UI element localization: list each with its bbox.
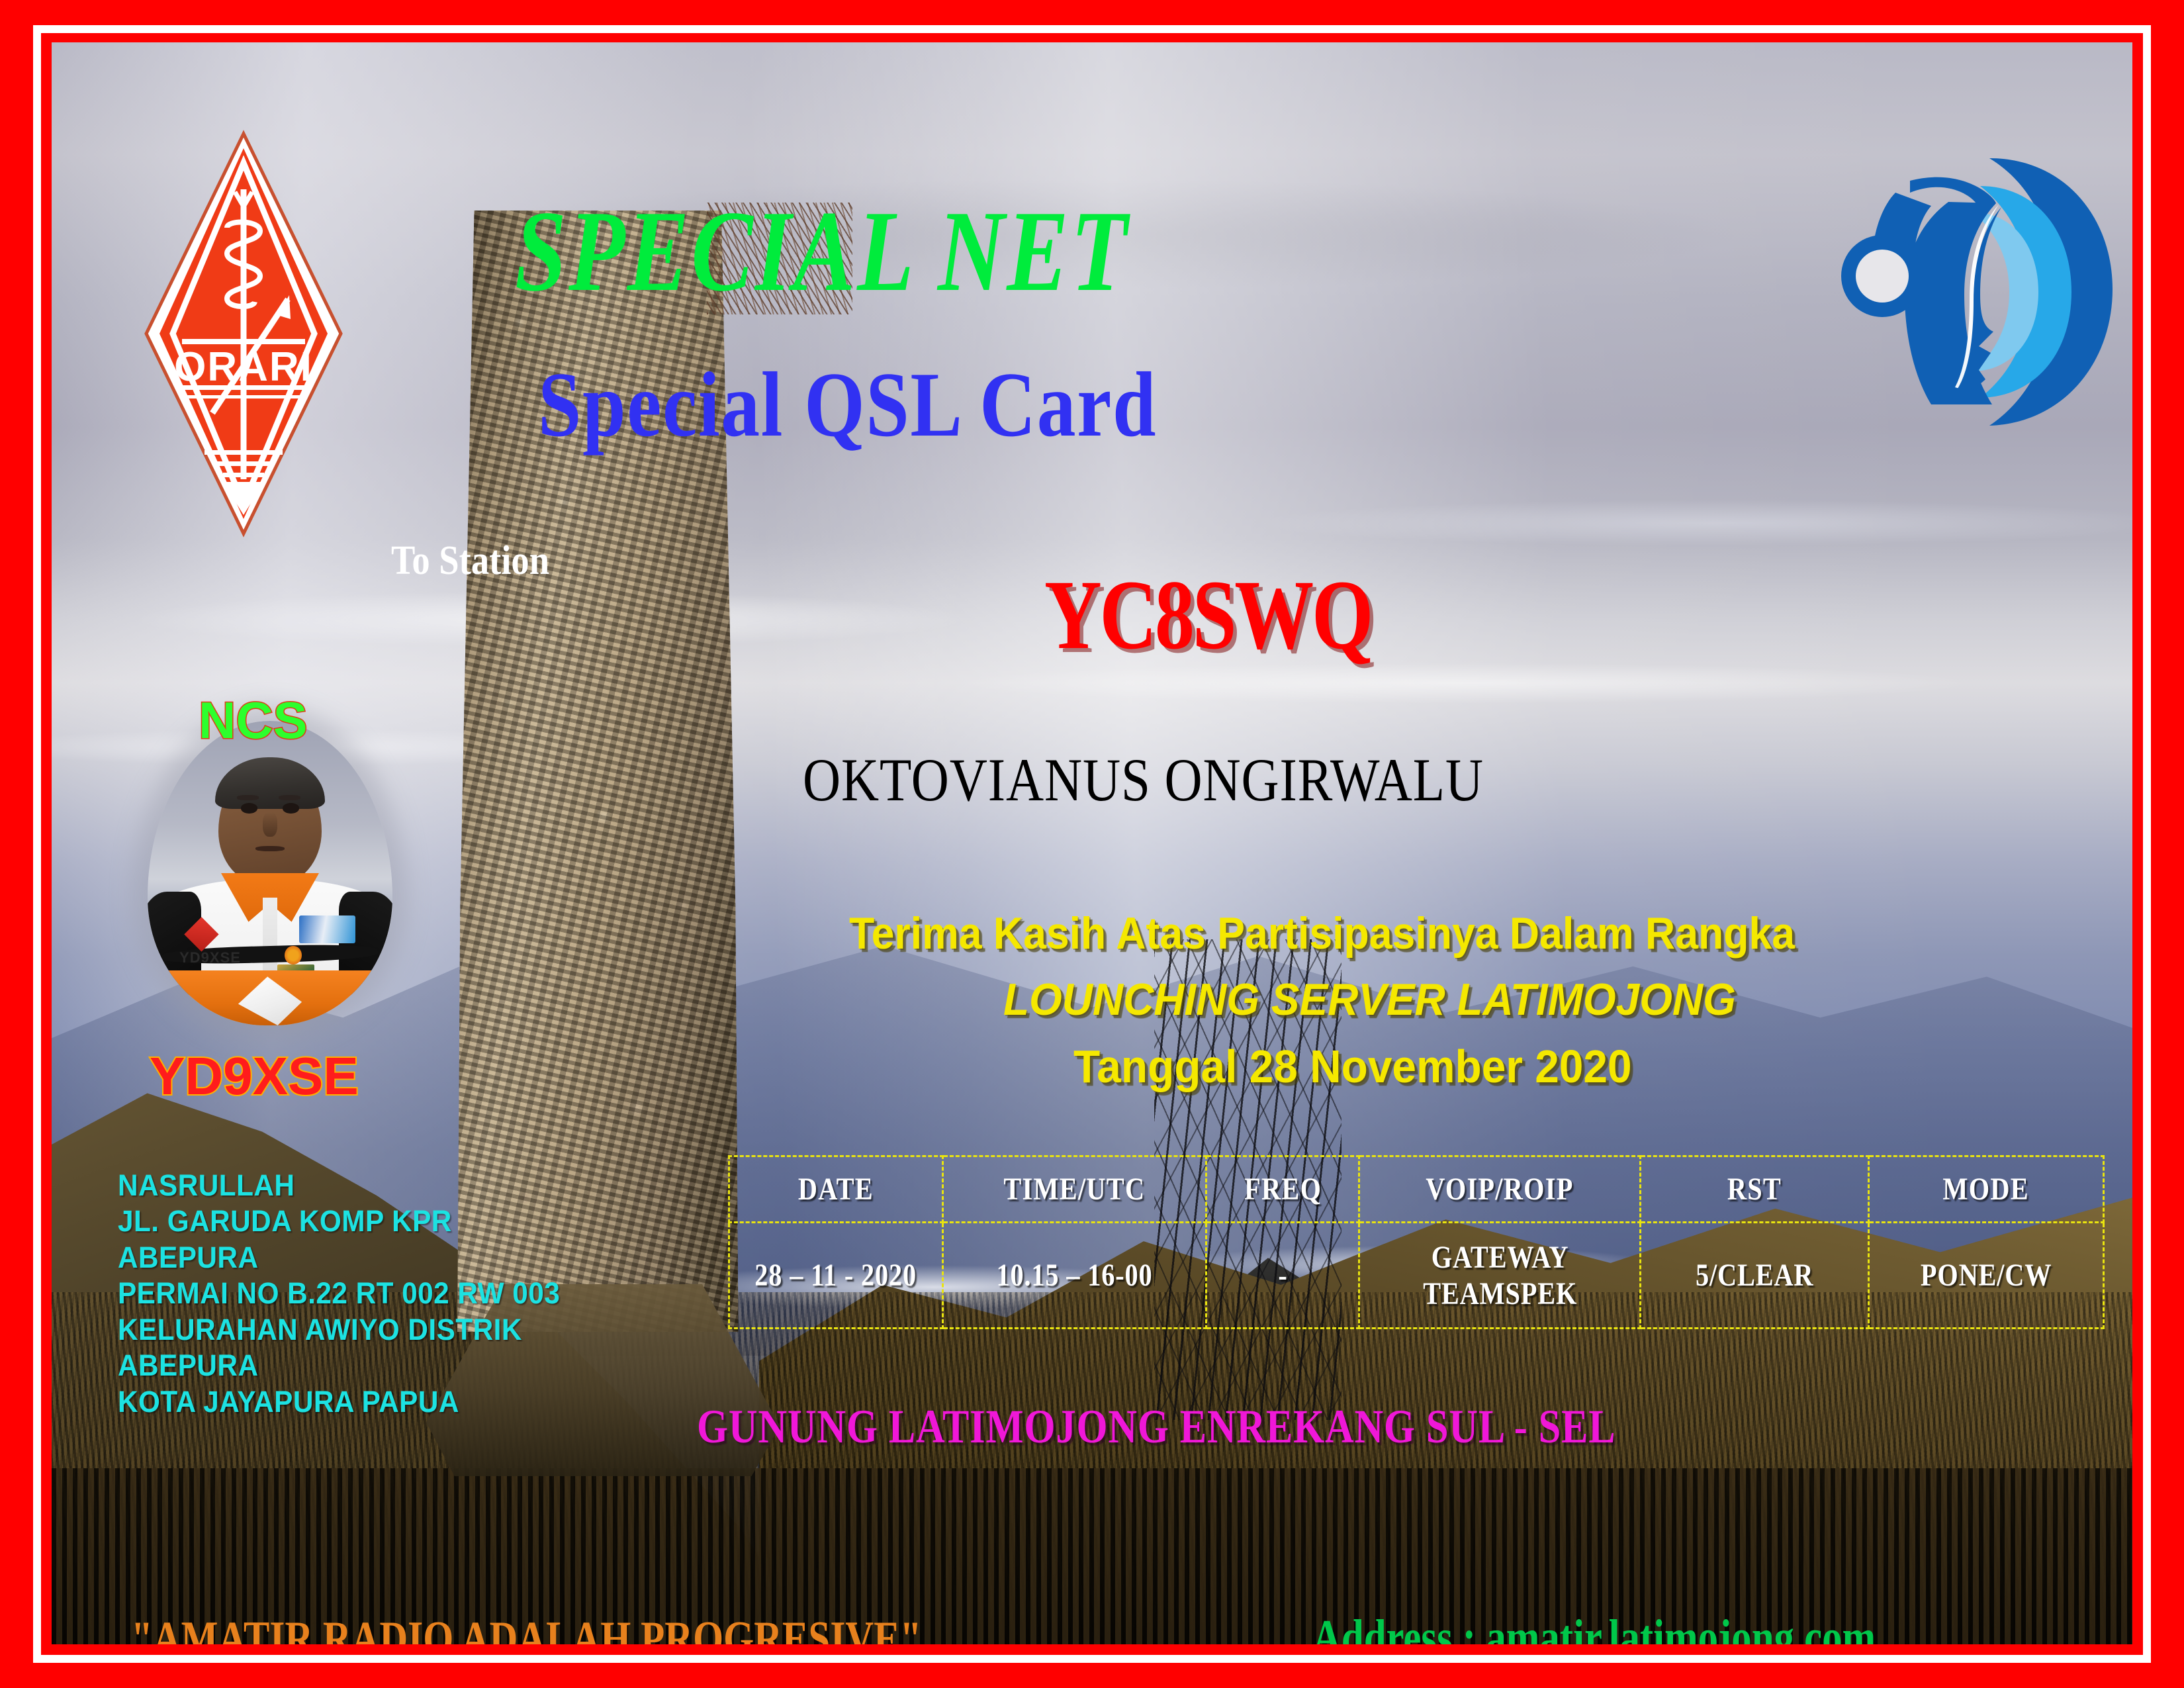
page-subtitle: Special QSL Card [538, 359, 1157, 451]
card-background-photo: ORARI [52, 42, 2132, 1644]
cell-freq: - [1206, 1223, 1359, 1329]
address-line: ABEPURA [118, 1348, 628, 1383]
cell-voip: GATEWAY TEAMSPEK [1359, 1223, 1641, 1329]
qso-table: DATE TIME/UTC FREQ VOIP/ROIP RST MODE 28… [728, 1155, 2105, 1329]
radio-operator-headphones-icon [1832, 152, 2116, 433]
ncs-callsign: YD9XSE [150, 1050, 359, 1103]
column-header-freq: FREQ [1206, 1156, 1359, 1223]
to-station-label: To Station [391, 540, 549, 581]
column-header-rst: RST [1641, 1156, 1868, 1223]
cell-rst: 5/CLEAR [1641, 1223, 1868, 1329]
address-line: NASRULLAH [118, 1168, 628, 1203]
address-line: ABEPURA [118, 1240, 628, 1276]
column-header-date: DATE [729, 1156, 943, 1223]
table-header-row: DATE TIME/UTC FREQ VOIP/ROIP RST MODE [729, 1156, 2104, 1223]
photo-badge-callsign: YD9XSE [179, 949, 241, 966]
page-title: SPECIAL NET [515, 193, 1130, 309]
event-date: Tanggal 28 November 2020 [1073, 1043, 1632, 1090]
cell-date: 28 – 11 - 2020 [729, 1223, 943, 1329]
cell-mode: PONE/CW [1868, 1223, 2103, 1329]
qsl-card: ORARI [0, 0, 2184, 1688]
footer-web-address: Address : amatir.latimojong.com [1312, 1613, 1876, 1644]
thanks-line-2: LOUNCHING SERVER LATIMOJONG [1003, 977, 1736, 1022]
address-line: PERMAI NO B.22 RT 002 RW 003 [118, 1276, 628, 1311]
cell-time: 10.15 – 16-00 [942, 1223, 1206, 1329]
svg-text:ORARI: ORARI [174, 344, 313, 390]
column-header-time: TIME/UTC [942, 1156, 1206, 1223]
table-row: 28 – 11 - 2020 10.15 – 16-00 - GATEWAY T… [729, 1223, 2104, 1329]
column-header-voip: VOIP/ROIP [1359, 1156, 1641, 1223]
address-block: NASRULLAH JL. GARUDA KOMP KPR ABEPURA PE… [118, 1168, 660, 1420]
thanks-line-1: Terima Kasih Atas Partisipasinya Dalam R… [849, 911, 1795, 956]
footer-slogan: "AMATIR RADIO ADALAH PROGRESIVE" [131, 1615, 921, 1644]
ncs-label: NCS [199, 694, 308, 746]
station-callsign: YC8SWQ [1044, 565, 1371, 665]
operator-name: OKTOVIANUS ONGIRWALU [803, 749, 1484, 810]
ncs-operator-photo: YD9XSE [148, 721, 392, 1025]
address-line: KOTA JAYAPURA PAPUA [118, 1384, 628, 1420]
orari-logo-icon: ORARI [141, 128, 346, 539]
column-header-mode: MODE [1868, 1156, 2103, 1223]
address-line: KELURAHAN AWIYO DISTRIK [118, 1312, 628, 1348]
address-line: JL. GARUDA KOMP KPR [118, 1203, 628, 1239]
location-text: GUNUNG LATIMOJONG ENREKANG SUL - SEL [697, 1403, 1615, 1450]
